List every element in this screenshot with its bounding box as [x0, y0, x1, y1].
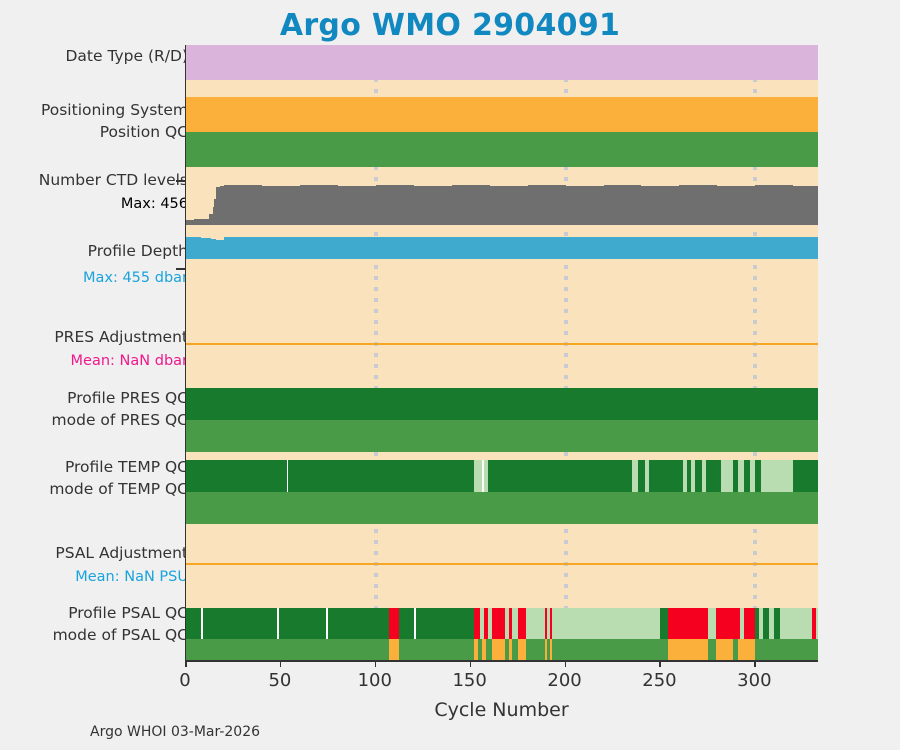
- segment-profile_temp_qc: [706, 460, 721, 492]
- segment-profile_pres_qc: [186, 388, 818, 420]
- segment-profile_psal_qc: [708, 608, 716, 639]
- segment-profile_psal_qc: [526, 608, 545, 639]
- segment-position_qc: [186, 132, 818, 167]
- band-profile_pres_qc: [186, 388, 818, 420]
- segment-mode_psal_qc: [186, 639, 389, 660]
- segment-mode_psal_qc: [755, 639, 818, 660]
- bar-profile_depth: [414, 237, 528, 259]
- bar-ctd_levels: [755, 185, 793, 225]
- plot-area: [185, 45, 818, 660]
- bar-ctd_levels: [793, 186, 818, 225]
- x-tick-200: [565, 660, 567, 667]
- row-label-pres-adjustment: PRES Adjustment: [54, 329, 188, 347]
- row-label-pres-adjustment-mean: Mean: NaN dbar: [71, 353, 188, 370]
- bar-profile_depth: [755, 237, 818, 259]
- row-label-profile-psal-qc: Profile PSAL QC: [68, 605, 188, 623]
- bar-ctd_levels: [641, 186, 679, 225]
- segment-mode_psal_qc: [552, 639, 668, 660]
- row-label-profile-depth-max: Max: 455 dbar: [83, 270, 188, 287]
- x-tick-label-100: 100: [345, 670, 405, 691]
- row-label-mode-temp-qc: mode of TEMP QC: [49, 481, 188, 499]
- bar-ctd_levels: [490, 186, 528, 225]
- argo-profile-dashboard: Argo WMO 2904091 Date Type (R/D) Positio…: [0, 0, 900, 750]
- bar-ctd_levels: [414, 186, 452, 225]
- row-label-ctd-levels: Number CTD levels: [39, 172, 188, 190]
- segment-mode_psal_qc: [399, 639, 475, 660]
- bar-ctd_levels: [338, 186, 376, 225]
- row-label-ctd-levels-max: Max: 456: [121, 196, 188, 213]
- segment-profile_psal_qc: [416, 608, 475, 639]
- segment-profile_psal_qc: [518, 608, 526, 639]
- segment-profile_temp_qc: [288, 460, 474, 492]
- band-mode_psal_qc: [186, 639, 818, 660]
- axis-tick-profile-depth: [176, 268, 185, 270]
- segment-profile_temp_qc: [638, 460, 646, 492]
- segment-profile_psal_qc: [552, 608, 660, 639]
- segment-profile_temp_qc: [721, 460, 732, 492]
- segment-mode_psal_qc: [738, 639, 755, 660]
- row-label-mode-pres-qc: mode of PRES QC: [52, 412, 188, 430]
- plot-canvas: [186, 45, 818, 660]
- segment-mode_psal_qc: [716, 639, 733, 660]
- segment-profile_temp_qc: [695, 460, 703, 492]
- segment-profile_temp_qc: [488, 460, 632, 492]
- segment-profile_psal_qc: [186, 608, 201, 639]
- row-label-date-type: Date Type (R/D): [65, 48, 188, 66]
- segment-profile_psal_qc: [744, 608, 755, 639]
- segment-profile_psal_qc: [203, 608, 277, 639]
- segment-mode_psal_qc: [708, 639, 716, 660]
- segment-profile_psal_qc: [328, 608, 389, 639]
- x-tick-300: [754, 660, 756, 667]
- bar-ctd_levels: [717, 186, 755, 225]
- segment-profile_psal_qc: [660, 608, 668, 639]
- segment-profile_temp_qc: [186, 460, 287, 492]
- x-tick-0: [185, 660, 187, 667]
- segment-profile_psal_qc: [399, 608, 414, 639]
- x-tick-250: [659, 660, 661, 667]
- bar-ctd_levels: [452, 185, 490, 225]
- bar-profile_depth: [300, 237, 414, 259]
- segment-mode_psal_qc: [668, 639, 708, 660]
- row-label-mode-psal-qc: mode of PSAL QC: [53, 627, 188, 645]
- bar-ctd_levels: [679, 185, 717, 225]
- band-position_qc: [186, 132, 818, 167]
- x-tick-50: [280, 660, 282, 667]
- row-label-profile-depth: Profile Depth: [88, 243, 188, 261]
- x-tick-label-250: 250: [629, 670, 689, 691]
- x-tick-100: [375, 660, 377, 667]
- bar-profile_depth: [186, 237, 195, 259]
- x-tick-label-0: 0: [155, 670, 215, 691]
- x-tick-label-200: 200: [535, 670, 595, 691]
- band-date_type: [186, 45, 818, 80]
- segment-positioning: [186, 97, 818, 132]
- band-profile_depth: [186, 237, 818, 259]
- bar-ctd_levels: [262, 186, 300, 225]
- segment-profile_psal_qc: [492, 608, 505, 639]
- bar-profile_depth: [641, 237, 755, 259]
- bar-ctd_levels: [566, 186, 604, 225]
- segment-profile_psal_qc: [816, 608, 818, 639]
- segment-profile_temp_qc: [474, 460, 482, 492]
- axis-tick-ctd-levels: [176, 180, 185, 182]
- segment-profile_temp_qc: [793, 460, 818, 492]
- x-axis-title: Cycle Number: [185, 699, 818, 721]
- segment-date_type: [186, 45, 818, 80]
- segment-profile_psal_qc: [279, 608, 326, 639]
- segment-profile_psal_qc: [668, 608, 708, 639]
- segment-mode_psal_qc: [518, 639, 526, 660]
- row-label-psal-adjustment: PSAL Adjustment: [55, 545, 188, 563]
- row-label-positioning-system: Positioning System: [41, 102, 188, 120]
- adjustment-line-psal_adjustment: [186, 563, 818, 565]
- page-title: Argo WMO 2904091: [0, 8, 900, 43]
- bar-ctd_levels: [528, 185, 566, 225]
- adjustment-line-pres_adjustment: [186, 343, 818, 345]
- segment-mode_temp_qc: [186, 492, 818, 524]
- bar-profile_depth: [216, 240, 224, 259]
- footer-credit: Argo WHOI 03-Mar-2026: [90, 724, 260, 740]
- x-tick-150: [470, 660, 472, 667]
- row-label-position-qc: Position QC: [100, 124, 188, 142]
- segment-profile_psal_qc: [780, 608, 812, 639]
- segment-profile_temp_qc: [761, 460, 793, 492]
- bar-ctd_levels: [300, 185, 338, 225]
- segment-mode_pres_qc: [186, 420, 818, 452]
- x-tick-label-300: 300: [724, 670, 784, 691]
- bar-profile_depth: [224, 237, 300, 259]
- segment-profile_psal_qc: [389, 608, 398, 639]
- band-mode_temp_qc: [186, 492, 818, 524]
- band-ctd_levels: [186, 185, 818, 225]
- bar-ctd_levels: [604, 185, 642, 225]
- band-profile_psal_qc: [186, 608, 818, 639]
- segment-profile_psal_qc: [716, 608, 741, 639]
- segment-profile_temp_qc: [649, 460, 683, 492]
- x-tick-label-50: 50: [250, 670, 310, 691]
- bar-ctd_levels: [376, 185, 414, 225]
- segment-mode_psal_qc: [526, 639, 545, 660]
- segment-mode_psal_qc: [492, 639, 505, 660]
- band-positioning: [186, 97, 818, 132]
- bar-ctd_levels: [224, 185, 262, 225]
- x-tick-label-150: 150: [440, 670, 500, 691]
- row-label-profile-pres-qc: Profile PRES QC: [67, 390, 188, 408]
- segment-mode_psal_qc: [389, 639, 398, 660]
- row-label-psal-adjustment-mean: Mean: NaN PSU: [75, 569, 188, 586]
- band-mode_pres_qc: [186, 420, 818, 452]
- bar-profile_depth: [528, 237, 642, 259]
- row-label-profile-temp-qc: Profile TEMP QC: [65, 459, 188, 477]
- band-profile_temp_qc: [186, 460, 818, 492]
